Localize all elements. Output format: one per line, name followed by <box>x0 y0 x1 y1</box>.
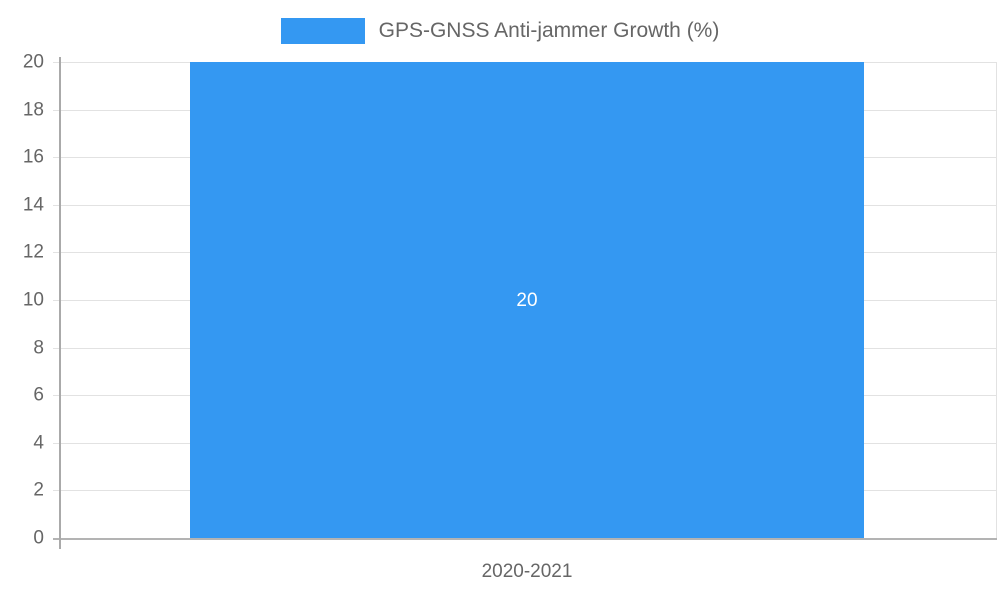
y-tick-label-10: 10 <box>0 291 44 310</box>
y-tick-label-4: 4 <box>0 433 44 452</box>
bar-2020-2021[interactable]: 20 <box>190 62 864 538</box>
chart-legend: GPS-GNSS Anti-jammer Growth (%) <box>0 14 1000 48</box>
y-tick-label-6: 6 <box>0 386 44 405</box>
bar-value-label: 20 <box>516 291 537 310</box>
plot-area: 20 <box>60 62 997 538</box>
bar-chart: GPS-GNSS Anti-jammer Growth (%) 20 20 18… <box>0 0 1000 600</box>
legend-color-swatch <box>281 18 365 44</box>
y-tick-label-0: 0 <box>0 529 44 548</box>
legend-item-label: GPS-GNSS Anti-jammer Growth (%) <box>379 18 720 44</box>
x-tick-label-2020-2021: 2020-2021 <box>482 562 573 581</box>
y-axis-line <box>59 57 61 549</box>
axis-baseline <box>53 538 997 540</box>
y-tick-label-16: 16 <box>0 148 44 167</box>
y-tick-label-14: 14 <box>0 195 44 214</box>
y-tick-label-12: 12 <box>0 243 44 262</box>
y-tick-label-18: 18 <box>0 100 44 119</box>
legend-item-gps-gnss-anti-jammer-growth[interactable]: GPS-GNSS Anti-jammer Growth (%) <box>281 18 720 44</box>
y-tick-label-2: 2 <box>0 481 44 500</box>
y-tick-label-8: 8 <box>0 338 44 357</box>
plot-right-border <box>996 62 997 538</box>
y-tick-label-20: 20 <box>0 53 44 72</box>
